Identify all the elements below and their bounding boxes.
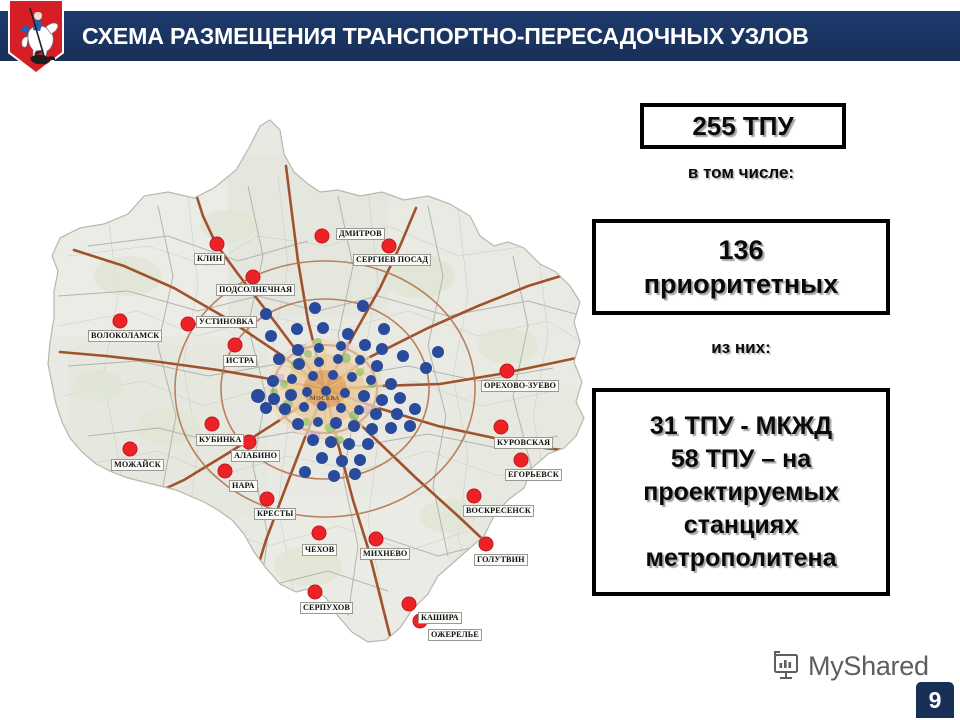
- map-marker-18[interactable]: [479, 537, 494, 552]
- map-city-label: ВОЛОКОЛАМСК: [88, 330, 162, 342]
- map-metro-hub-marker-63[interactable]: [349, 468, 361, 480]
- priority-hubs-word: приоритетных: [644, 267, 838, 301]
- map-city-label: АЛАБИНО: [231, 450, 280, 462]
- breakdown-line-3: проектируемых: [643, 476, 839, 509]
- map-metro-hub-marker-17[interactable]: [355, 355, 365, 365]
- map-city-label: СЕРГИЕВ ПОСАД: [353, 254, 431, 266]
- map-marker-7[interactable]: [500, 364, 515, 379]
- map-city-label: КАШИРА: [418, 612, 462, 624]
- map-metro-hub-marker-59[interactable]: [336, 455, 348, 467]
- map-metro-hub-marker-2[interactable]: [357, 300, 369, 312]
- map-metro-hub-marker-56[interactable]: [343, 438, 355, 450]
- map-city-label: ГОЛУТВИН: [474, 554, 528, 566]
- map-metro-hub-marker-39[interactable]: [279, 403, 291, 415]
- map-marker-5[interactable]: [113, 314, 128, 329]
- total-hubs-value: 255 ТПУ: [692, 111, 793, 142]
- map-city-label: ИСТРА: [223, 355, 257, 367]
- map-city-label: ЧЕХОВ: [302, 544, 337, 556]
- map-metro-hub-marker-34[interactable]: [340, 388, 350, 398]
- map-metro-hub-marker-49[interactable]: [330, 417, 342, 429]
- priority-hubs-box: 136 приоритетных: [592, 219, 890, 315]
- map-metro-hub-marker-19[interactable]: [397, 350, 409, 362]
- map-metro-hub-marker-10[interactable]: [336, 341, 346, 351]
- map-city-label: СЕРПУХОВ: [300, 602, 353, 614]
- map-city-label: ОЖЕРЕЛЬЕ: [428, 629, 482, 641]
- map-metro-hub-marker-53[interactable]: [404, 420, 416, 432]
- breakdown-line-1: 31 ТПУ - МКЖД: [650, 410, 832, 443]
- map-metro-hub-marker-5[interactable]: [317, 322, 329, 334]
- map-marker-2[interactable]: [382, 239, 397, 254]
- including-label: в том числе:: [592, 163, 890, 183]
- map-city-label: ОРЕХОВО-ЗУЕВО: [481, 380, 559, 392]
- map-metro-hub-marker-14[interactable]: [293, 358, 305, 370]
- map-city-label: КУБИНКА: [196, 434, 244, 446]
- map-metro-hub-marker-57[interactable]: [362, 438, 374, 450]
- map-metro-hub-marker-13[interactable]: [273, 353, 285, 365]
- map-marker-8[interactable]: [205, 417, 220, 432]
- map-metro-hub-marker-28[interactable]: [385, 378, 397, 390]
- map-metro-hub-marker-43[interactable]: [354, 405, 364, 415]
- map-marker-14[interactable]: [467, 489, 482, 504]
- map-metro-hub-marker-44[interactable]: [370, 408, 382, 420]
- map-city-label: НАРА: [229, 480, 258, 492]
- map-city-label: ЕГОРЬЕВСК: [505, 469, 562, 481]
- map-metro-hub-marker-0[interactable]: [260, 308, 272, 320]
- map-metro-hub-marker-48[interactable]: [313, 417, 323, 427]
- breakdown-line-4: станциях: [684, 509, 798, 542]
- map-metro-hub-marker-26[interactable]: [347, 372, 357, 382]
- myshared-watermark: MyShared: [770, 650, 929, 682]
- map-metro-hub-marker-7[interactable]: [378, 323, 390, 335]
- map-metro-hub-marker-18[interactable]: [371, 360, 383, 372]
- map-metro-hub-marker-62[interactable]: [328, 470, 340, 482]
- map-city-label: МИХНЕВО: [360, 548, 410, 560]
- map-metro-hub-marker-50[interactable]: [348, 420, 360, 432]
- total-hubs-box: 255 ТПУ: [640, 103, 846, 149]
- map-marker-16[interactable]: [312, 526, 327, 541]
- map-marker-1[interactable]: [315, 229, 330, 244]
- map-metro-hub-marker-27[interactable]: [366, 375, 376, 385]
- map-metro-hub-marker-23[interactable]: [287, 374, 297, 384]
- map-metro-hub-marker-20[interactable]: [432, 346, 444, 358]
- map-metro-hub-marker-9[interactable]: [314, 343, 324, 353]
- map-metro-hub-marker-12[interactable]: [376, 343, 388, 355]
- map-metro-hub-marker-52[interactable]: [385, 422, 397, 434]
- map-marker-17[interactable]: [369, 532, 384, 547]
- page-title: СХЕМА РАЗМЕЩЕНИЯ ТРАНСПОРТНО-ПЕРЕСАДОЧНЫ…: [82, 17, 941, 57]
- map-metro-hub-marker-31[interactable]: [285, 389, 297, 401]
- map-metro-hub-marker-41[interactable]: [317, 401, 327, 411]
- map-marker-4[interactable]: [181, 317, 196, 332]
- map-metro-hub-marker-11[interactable]: [359, 339, 371, 351]
- myshared-label: MyShared: [808, 651, 929, 682]
- map-marker-6[interactable]: [228, 338, 243, 353]
- map-metro-hub-marker-24[interactable]: [308, 371, 318, 381]
- moscow-oblast-map[interactable]: МОСКВА КЛИНДМИТРОВСЕРГИЕВ ПОСАДПОДСОЛНЕЧ…: [8, 96, 608, 656]
- map-metro-hub-marker-36[interactable]: [376, 394, 388, 406]
- map-marker-19[interactable]: [308, 585, 323, 600]
- priority-hubs-count: 136: [718, 233, 763, 267]
- map-metro-hub-marker-61[interactable]: [299, 466, 311, 478]
- map-metro-hub-marker-40[interactable]: [299, 402, 309, 412]
- map-metro-hub-marker-4[interactable]: [291, 323, 303, 335]
- map-metro-hub-marker-1[interactable]: [309, 302, 321, 314]
- map-city-label: КУРОВСКАЯ: [494, 437, 553, 449]
- st-george-dragon-icon: [8, 0, 64, 74]
- map-city-label: МОЖАЙСК: [111, 459, 164, 471]
- map-metro-hub-marker-55[interactable]: [325, 436, 337, 448]
- moscow-coat-of-arms-emblem: [8, 0, 64, 74]
- map-marker-0[interactable]: [210, 237, 225, 252]
- map-city-label: КЛИН: [194, 253, 225, 265]
- map-metro-hub-marker-15[interactable]: [314, 357, 324, 367]
- map-metro-hub-marker-37[interactable]: [394, 392, 406, 404]
- map-metro-hub-marker-46[interactable]: [409, 403, 421, 415]
- map-metro-hub-marker-29[interactable]: [251, 389, 265, 403]
- map-marker-20[interactable]: [402, 597, 417, 612]
- map-marker-15[interactable]: [260, 492, 275, 507]
- map-metro-hub-marker-51[interactable]: [366, 423, 378, 435]
- map-metro-hub-marker-6[interactable]: [342, 328, 354, 340]
- map-metro-hub-marker-54[interactable]: [307, 434, 319, 446]
- map-metro-hub-marker-21[interactable]: [420, 362, 432, 374]
- map-metro-hub-marker-58[interactable]: [316, 452, 328, 464]
- map-marker-9[interactable]: [494, 420, 509, 435]
- of-those-label: из них:: [592, 338, 890, 358]
- map-metro-hub-marker-22[interactable]: [267, 375, 279, 387]
- map-metro-hub-marker-8[interactable]: [292, 344, 304, 356]
- map-metro-hub-marker-42[interactable]: [336, 403, 346, 413]
- map-city-label: УСТИНОВКА: [196, 316, 257, 328]
- map-marker-12[interactable]: [514, 453, 529, 468]
- breakdown-box: 31 ТПУ - МКЖД 58 ТПУ – на проектируемых …: [592, 388, 890, 596]
- map-marker-3[interactable]: [246, 270, 261, 285]
- map-metro-hub-marker-16[interactable]: [333, 354, 343, 364]
- map-marker-11[interactable]: [123, 442, 138, 457]
- map-metro-hub-marker-32[interactable]: [302, 387, 312, 397]
- map-metro-hub-marker-25[interactable]: [328, 370, 338, 380]
- map-metro-hub-marker-38[interactable]: [260, 402, 272, 414]
- map-city-label: ПОДСОЛНЕЧНАЯ: [216, 284, 295, 296]
- map-metro-hub-marker-47[interactable]: [292, 418, 304, 430]
- slide-number-badge: 9: [916, 682, 954, 718]
- breakdown-line-2: 58 ТПУ – на: [671, 443, 811, 476]
- map-metro-hub-marker-60[interactable]: [354, 454, 366, 466]
- presentation-chart-icon: [770, 650, 802, 682]
- map-city-label: КРЕСТЫ: [254, 508, 296, 520]
- breakdown-line-5: метрополитена: [645, 542, 836, 575]
- map-metro-hub-marker-3[interactable]: [265, 330, 277, 342]
- map-city-label: ВОСКРЕСЕНСК: [463, 505, 534, 517]
- map-metro-hub-marker-33[interactable]: [321, 386, 331, 396]
- map-metro-hub-marker-35[interactable]: [358, 390, 370, 402]
- map-marker-13[interactable]: [218, 464, 233, 479]
- map-metro-hub-marker-45[interactable]: [391, 408, 403, 420]
- map-city-label: ДМИТРОВ: [336, 228, 385, 240]
